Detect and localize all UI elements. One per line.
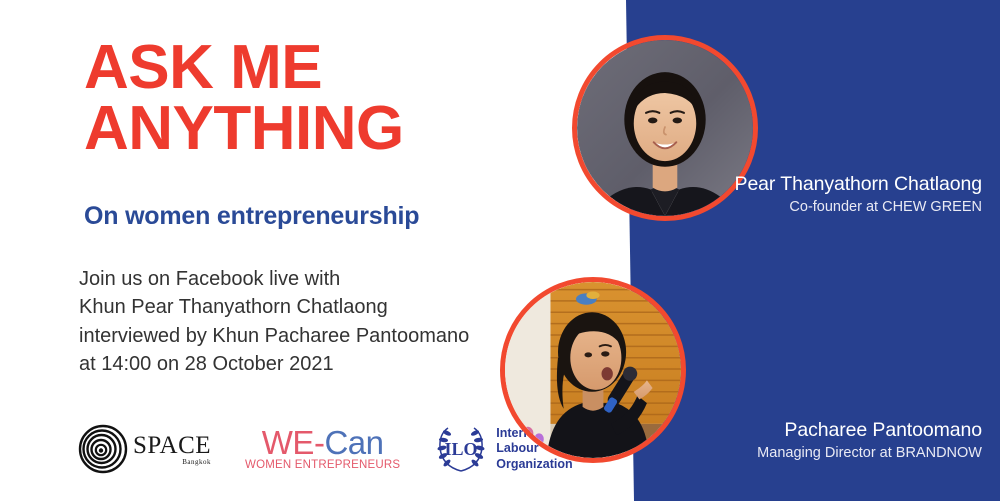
logo-wecan-wordmark: WE-Can bbox=[262, 426, 384, 459]
logo-wecan-part1: WE- bbox=[262, 424, 325, 461]
logo-space-name: SPACE bbox=[133, 433, 211, 458]
logo-space-sub: Bangkok bbox=[182, 459, 211, 466]
speaker-caption-pacharee: Pacharee Pantoomano Managing Director at… bbox=[757, 419, 982, 463]
speaker-photo-pear bbox=[572, 35, 758, 221]
logo-wecan: WE-Can WOMEN ENTREPRENEURS bbox=[245, 426, 400, 472]
speaker-caption-pear: Pear Thanyathorn Chatlaong Co-founder at… bbox=[735, 173, 982, 217]
logo-space: SPACE Bangkok bbox=[78, 424, 211, 474]
page-title: ASK ME ANYTHING bbox=[84, 38, 404, 160]
speaker-role: Co-founder at CHEW GREEN bbox=[735, 198, 982, 217]
event-details-text: Join us on Facebook live with Khun Pear … bbox=[79, 265, 469, 379]
speaker-photo-pacharee bbox=[500, 277, 686, 463]
speaker-name: Pacharee Pantoomano bbox=[757, 419, 982, 442]
poster-canvas: ASK ME ANYTHING On women entrepreneurshi… bbox=[0, 0, 1000, 501]
svg-text:ILO: ILO bbox=[445, 439, 478, 459]
concentric-spiral-icon bbox=[78, 424, 128, 474]
laurel-wreath-icon: ILO bbox=[434, 424, 488, 474]
avatar bbox=[577, 40, 753, 216]
logo-wecan-part2: Can bbox=[324, 424, 383, 461]
avatar bbox=[505, 282, 681, 458]
speaker-name: Pear Thanyathorn Chatlaong bbox=[735, 173, 982, 196]
partner-logo-row: SPACE Bangkok WE-Can WOMEN ENTREPRENEURS bbox=[78, 424, 573, 474]
speaker-role: Managing Director at BRANDNOW bbox=[757, 444, 982, 463]
logo-wecan-tagline: WOMEN ENTREPRENEURS bbox=[245, 460, 400, 472]
page-subtitle: On women entrepreneurship bbox=[84, 202, 419, 231]
